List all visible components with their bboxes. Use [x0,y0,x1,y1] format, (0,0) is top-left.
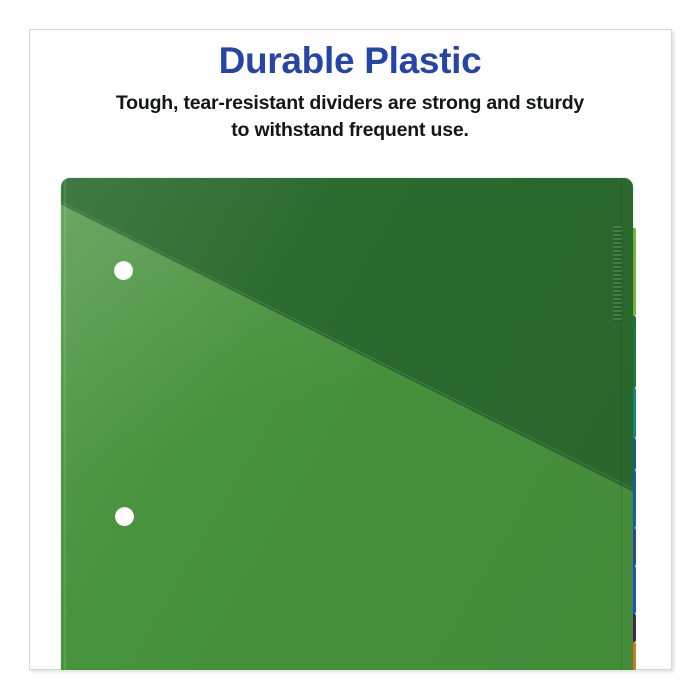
marketing-text-block: Durable Plastic Tough, tear-resistant di… [40,40,660,143]
subtitle-line-2: to withstand frequent use. [231,119,468,141]
left-fold-line [64,178,66,670]
diagonal-pocket-flap [61,178,633,670]
divider-sheet [61,178,633,670]
subtitle-line-1: Tough, tear-resistant dividers are stron… [116,92,584,114]
punch-hole-top [114,261,133,280]
subtitle: Tough, tear-resistant dividers are stron… [70,90,630,142]
reinforcement-rib-strip [613,226,622,322]
page-title: Durable Plastic [40,40,660,81]
punch-hole-bottom [115,507,134,526]
product-image-canvas: Durable Plastic Tough, tear-resistant di… [0,0,700,700]
pocket-highlight [61,178,633,670]
product-photo [30,170,671,670]
